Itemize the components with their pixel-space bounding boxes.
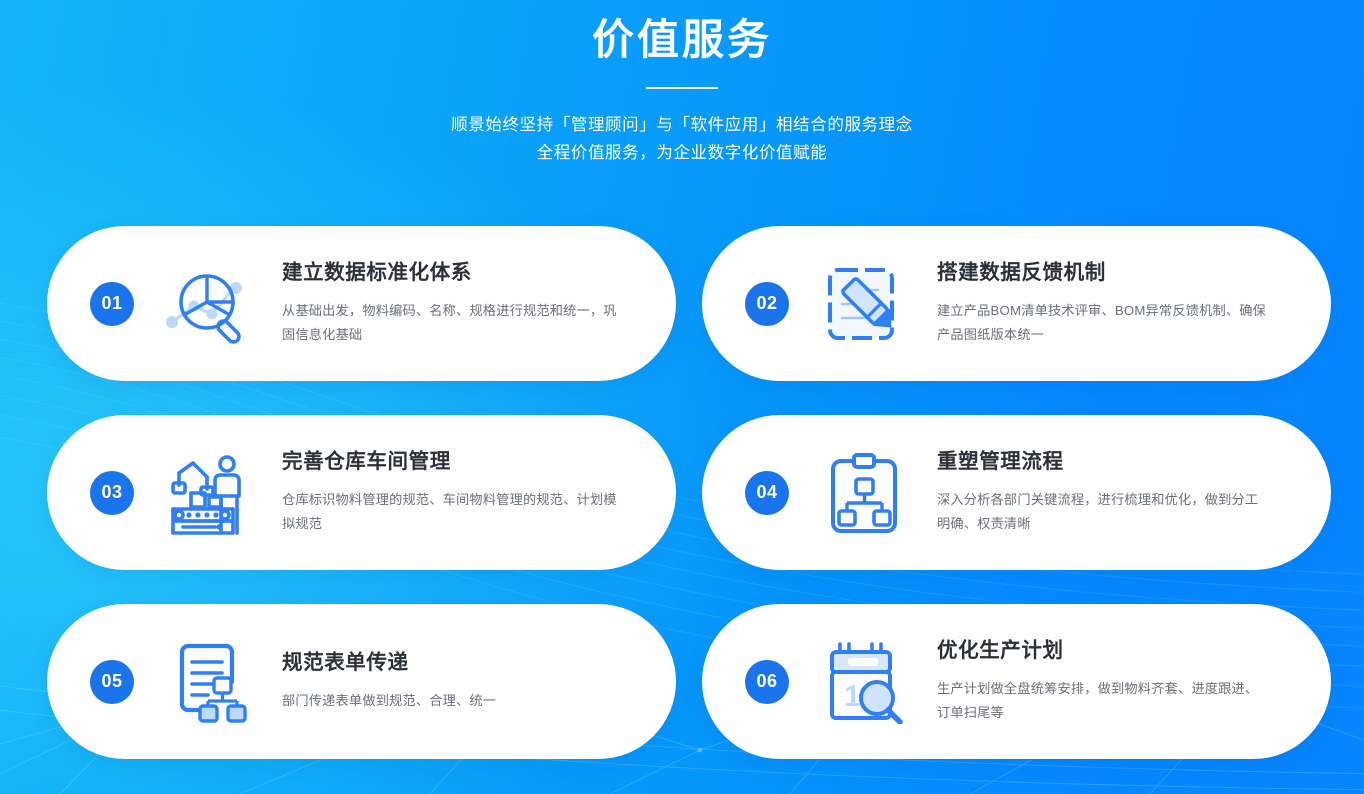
service-card-04[interactable]: 04 重塑管理流程 深入分析各部门关键流程，进行梳理和优化，做到分工明确、权责清…: [702, 415, 1331, 570]
card-text-block: 完善仓库车间管理 仓库标识物料管理的规范、车间物料管理的规范、计划模拟规范: [282, 449, 646, 537]
card-title: 重塑管理流程: [937, 449, 1301, 476]
clipboard-pencil-icon: [813, 258, 917, 350]
page-subtitle: 顺景始终坚持「管理顾问」与「软件应用」相结合的服务理念 全程价值服务，为企业数字…: [0, 111, 1364, 167]
service-card-05[interactable]: 05 规范表单传递 部门传递表单做到规范: [47, 604, 676, 759]
card-description: 从基础出发，物料编码、名称、规格进行规范和统一，巩固信息化基础: [282, 299, 622, 347]
card-text-block: 规范表单传递 部门传递表单做到规范、合理、统一: [282, 650, 646, 714]
card-description: 部门传递表单做到规范、合理、统一: [282, 689, 622, 713]
service-cards-grid: 01 建立数据标准化体系: [47, 226, 1332, 759]
card-title: 优化生产计划: [937, 638, 1301, 665]
card-number-badge: 04: [745, 471, 789, 515]
subtitle-line-2: 全程价值服务，为企业数字化价值赋能: [0, 139, 1364, 167]
page-title: 价值服务: [0, 14, 1364, 67]
page-header: 价值服务 顺景始终坚持「管理顾问」与「软件应用」相结合的服务理念 全程价值服务，…: [0, 0, 1364, 167]
card-description: 建立产品BOM清单技术评审、BOM异常反馈机制、确保产品图纸版本统一: [937, 299, 1267, 347]
card-number-badge: 03: [90, 471, 134, 515]
card-text-block: 重塑管理流程 深入分析各部门关键流程，进行梳理和优化，做到分工明确、权责清晰: [937, 449, 1301, 537]
service-card-01[interactable]: 01 建立数据标准化体系: [47, 226, 676, 381]
card-number-badge: 02: [745, 282, 789, 326]
service-card-03[interactable]: 03: [47, 415, 676, 570]
card-text-block: 搭建数据反馈机制 建立产品BOM清单技术评审、BOM异常反馈机制、确保产品图纸版…: [937, 260, 1301, 348]
pie-chart-magnifier-icon: [158, 258, 262, 350]
calendar-magnifier-icon: 11: [813, 636, 917, 728]
card-title: 搭建数据反馈机制: [937, 260, 1301, 287]
service-card-06[interactable]: 06 11 优化生产计划 生产计划做全盘统筹安排，做到物料齐套、: [702, 604, 1331, 759]
card-number-badge: 05: [90, 660, 134, 704]
card-text-block: 建立数据标准化体系 从基础出发，物料编码、名称、规格进行规范和统一，巩固信息化基…: [282, 260, 646, 348]
service-card-02[interactable]: 02 搭建数据反馈机制 建立产品BOM清单技术评审、BOM异常反馈机制、确保: [702, 226, 1331, 381]
factory-worker-conveyor-icon: [158, 447, 262, 539]
value-services-page: 价值服务 顺景始终坚持「管理顾问」与「软件应用」相结合的服务理念 全程价值服务，…: [0, 0, 1364, 794]
clipboard-orgchart-icon: [813, 447, 917, 539]
title-divider: [646, 87, 718, 89]
card-description: 深入分析各部门关键流程，进行梳理和优化，做到分工明确、权责清晰: [937, 488, 1267, 536]
card-title: 建立数据标准化体系: [282, 260, 646, 287]
card-description: 仓库标识物料管理的规范、车间物料管理的规范、计划模拟规范: [282, 488, 622, 536]
card-description: 生产计划做全盘统筹安排，做到物料齐套、进度跟进、订单扫尾等: [937, 677, 1267, 725]
card-number-badge: 01: [90, 282, 134, 326]
subtitle-line-1: 顺景始终坚持「管理顾问」与「软件应用」相结合的服务理念: [0, 111, 1364, 139]
card-text-block: 优化生产计划 生产计划做全盘统筹安排，做到物料齐套、进度跟进、订单扫尾等: [937, 638, 1301, 726]
document-flowchart-icon: [158, 636, 262, 728]
card-title: 规范表单传递: [282, 650, 646, 677]
card-title: 完善仓库车间管理: [282, 449, 646, 476]
card-number-badge: 06: [745, 660, 789, 704]
